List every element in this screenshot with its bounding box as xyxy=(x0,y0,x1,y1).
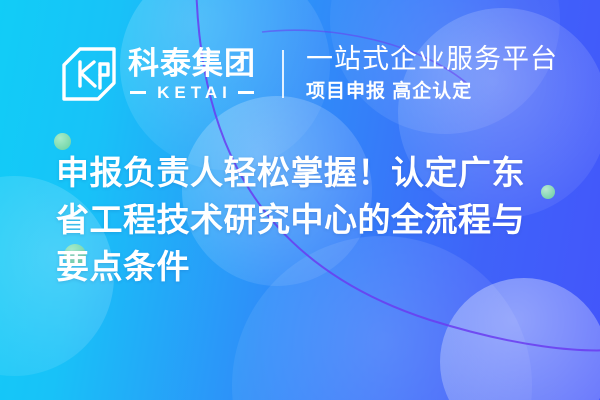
dash-right-icon xyxy=(238,91,254,94)
dash-left-icon xyxy=(130,91,146,94)
header-divider xyxy=(282,50,284,98)
brand-name-en: KETAI xyxy=(152,84,232,101)
brand-logo[interactable]: 科泰集团 KETAI xyxy=(58,43,256,105)
decorative-circle-bottom-right xyxy=(440,278,600,400)
brand-name-cn: 科泰集团 xyxy=(128,48,256,79)
headline-title: 申报负责人轻松掌握！认定广东省工程技术研究中心的全流程与要点条件 xyxy=(56,150,556,291)
brand-logo-wordmark: 科泰集团 KETAI xyxy=(128,48,256,101)
promo-banner: 科泰集团 KETAI 一站式企业服务平台 项目申报 高企认定 申报负责人轻松掌握… xyxy=(0,0,600,400)
decorative-green-dot-left xyxy=(54,133,71,150)
slogan-secondary: 项目申报 高企认定 xyxy=(306,81,558,104)
ketai-diamond-kp-logo-icon xyxy=(58,43,120,105)
brand-name-en-row: KETAI xyxy=(130,84,254,101)
banner-header: 科泰集团 KETAI 一站式企业服务平台 项目申报 高企认定 xyxy=(0,32,600,116)
slogan-primary: 一站式企业服务平台 xyxy=(306,44,558,74)
slogan-block: 一站式企业服务平台 项目申报 高企认定 xyxy=(306,44,558,103)
